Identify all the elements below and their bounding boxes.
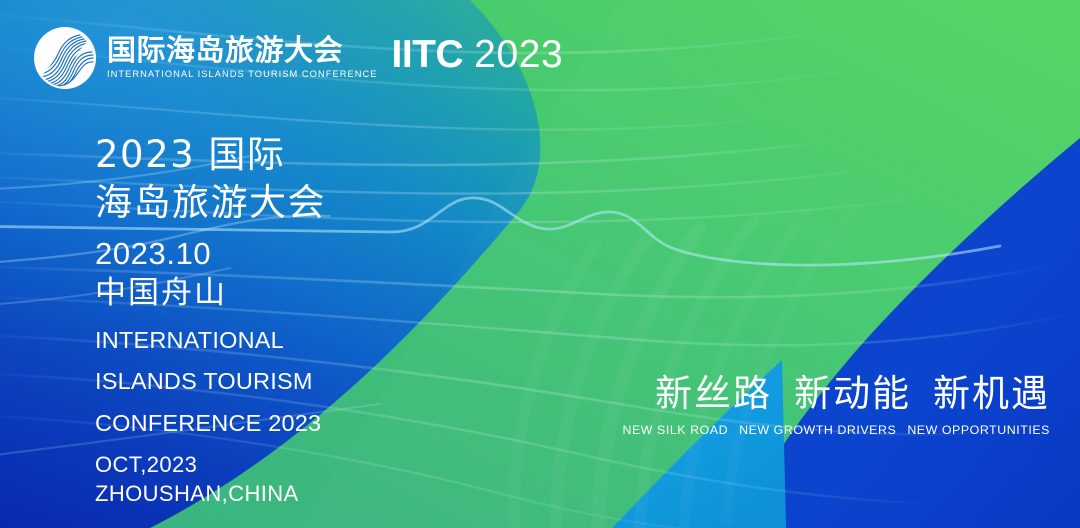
slogan-en-1: NEW SILK ROAD: [622, 423, 728, 437]
cn-event-date: 2023.10: [95, 233, 326, 275]
cn-event-location: 中国舟山: [95, 275, 326, 313]
en-title-line-1: INTERNATIONAL: [95, 327, 326, 354]
brand-year: 2023: [474, 35, 563, 74]
slogan-block: 新丝路新动能新机遇 NEW SILK ROADNEW GROWTH DRIVER…: [622, 374, 1050, 437]
event-details: 2023 国际 海岛旅游大会 2023.10 中国舟山 INTERNATIONA…: [95, 131, 326, 508]
iitc-globe-wave-logo: [34, 27, 96, 89]
logo-chinese-name: 国际海岛旅游大会: [107, 36, 378, 66]
cn-title-line-1: 2023 国际: [95, 131, 326, 179]
slogan-cn-2: 新动能: [794, 372, 911, 415]
en-event-location: ZHOUSHAN,CHINA: [95, 480, 326, 509]
slogan-en-3: NEW OPPORTUNITIES: [907, 423, 1050, 437]
slogan-cn-3: 新机遇: [933, 372, 1050, 415]
brand-abbreviation: IITC: [392, 35, 464, 74]
poster-canvas: 国际海岛旅游大会 INTERNATIONAL ISLANDS TOURISM C…: [0, 0, 1080, 528]
brand-lockup: 国际海岛旅游大会 INTERNATIONAL ISLANDS TOURISM C…: [34, 27, 563, 89]
cn-title-line-2: 海岛旅游大会: [95, 179, 326, 227]
en-title-line-2: ISLANDS TOURISM: [95, 368, 326, 395]
slogan-en-2: NEW GROWTH DRIVERS: [739, 423, 896, 437]
logo-english-name: INTERNATIONAL ISLANDS TOURISM CONFERENCE: [107, 69, 378, 80]
en-title-line-3: CONFERENCE 2023: [95, 410, 326, 437]
slogan-english: NEW SILK ROADNEW GROWTH DRIVERSNEW OPPOR…: [622, 423, 1050, 437]
en-event-date: OCT,2023: [95, 451, 326, 480]
slogan-cn-1: 新丝路: [655, 372, 772, 415]
slogan-chinese: 新丝路新动能新机遇: [622, 374, 1050, 414]
logo-wordmark: 国际海岛旅游大会 INTERNATIONAL ISLANDS TOURISM C…: [107, 36, 378, 80]
